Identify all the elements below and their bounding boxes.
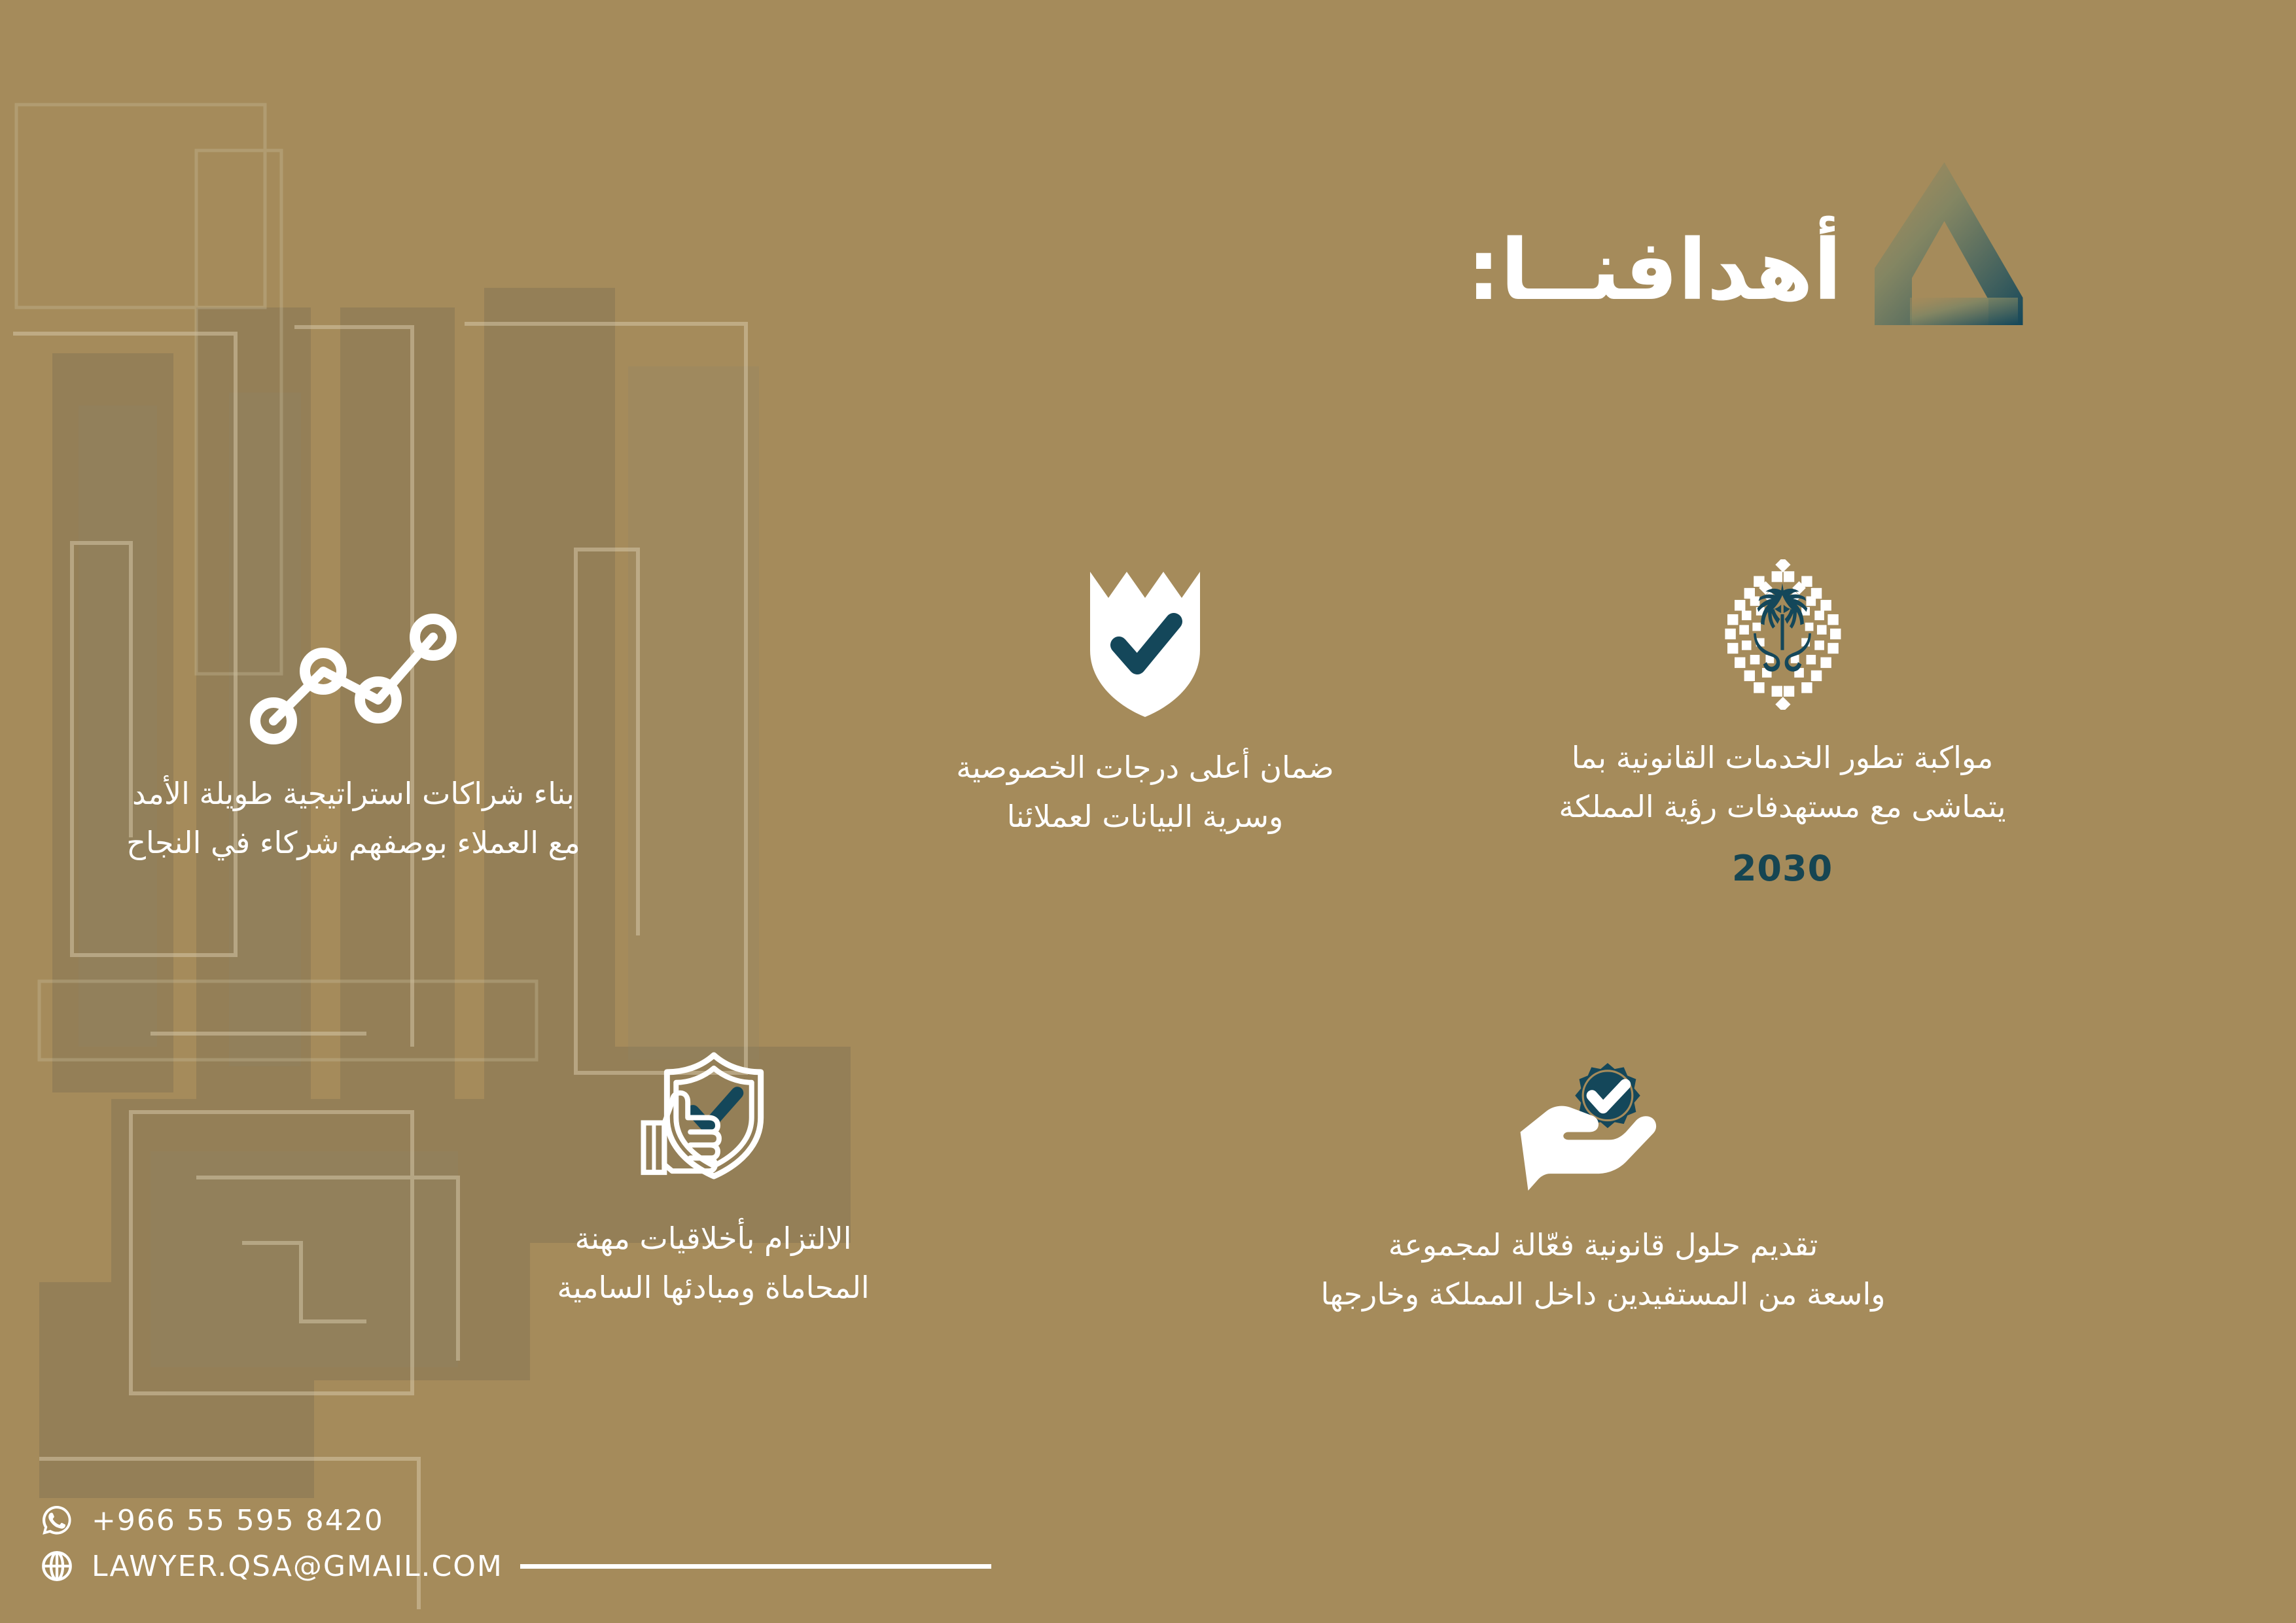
line-chart-growth-icon xyxy=(242,608,465,746)
contact-phone-row[interactable]: +966 55 595 8420 xyxy=(39,1503,991,1538)
icon-container xyxy=(1515,1053,1691,1197)
icon-container xyxy=(1080,563,1210,720)
icon-container xyxy=(242,589,465,746)
shield-check-icon xyxy=(1080,569,1210,720)
triangular-arrow-logo-icon xyxy=(1851,150,2047,347)
icon-container xyxy=(1710,553,1854,710)
phone-number-text: +966 55 595 8420 xyxy=(92,1504,384,1537)
goal-text: مواكبة تطور الخدمات القانونية بما يتماشى… xyxy=(1559,733,2005,831)
footer-contact-block: +966 55 595 8420 LAWYER.QSA@GMAIL.COM xyxy=(39,1503,991,1584)
hand-holding-badge-icon xyxy=(1515,1056,1691,1197)
thumbs-up-shield-icon xyxy=(638,1050,788,1191)
page-header: أهدافنــا: xyxy=(1467,150,2047,317)
goal-text: الالتزام بأخلاقيات مهنة المحاماة ومبادئه… xyxy=(557,1214,869,1312)
contact-email-row[interactable]: LAWYER.QSA@GMAIL.COM xyxy=(39,1548,503,1584)
footer-divider-rule xyxy=(520,1564,991,1569)
goal-card-partnership: بناء شراكات استراتيجية طويلة الأمد مع ال… xyxy=(0,589,733,867)
goal-card-vision: مواكبة تطور الخدمات القانونية بما يتماشى… xyxy=(1422,553,2142,889)
email-row-group: LAWYER.QSA@GMAIL.COM xyxy=(39,1548,991,1584)
icon-container xyxy=(638,1047,788,1191)
goal-text: بناء شراكات استراتيجية طويلة الأمد مع ال… xyxy=(126,769,580,867)
whatsapp-icon xyxy=(39,1503,75,1538)
saudi-vision-2030-emblem-icon xyxy=(1710,559,1854,710)
goal-card-ethics: الالتزام بأخلاقيات مهنة المحاماة ومبادئه… xyxy=(419,1047,1008,1312)
goal-card-privacy: ضمان أعلى درجات الخصوصية وسرية البيانات … xyxy=(864,563,1426,841)
goal-year-badge: 2030 xyxy=(1732,848,1833,889)
goal-card-solutions: تقديم حلول قانونية فعّالة لمجموعة واسعة … xyxy=(1171,1053,2035,1318)
globe-icon xyxy=(39,1548,75,1584)
page-title: أهدافنــا: xyxy=(1467,229,1842,317)
goal-text: ضمان أعلى درجات الخصوصية وسرية البيانات … xyxy=(956,743,1333,841)
goal-text: تقديم حلول قانونية فعّالة لمجموعة واسعة … xyxy=(1321,1221,1886,1318)
slide-canvas: أهدافنــا: xyxy=(0,0,2296,1623)
email-address-text: LAWYER.QSA@GMAIL.COM xyxy=(92,1550,503,1583)
